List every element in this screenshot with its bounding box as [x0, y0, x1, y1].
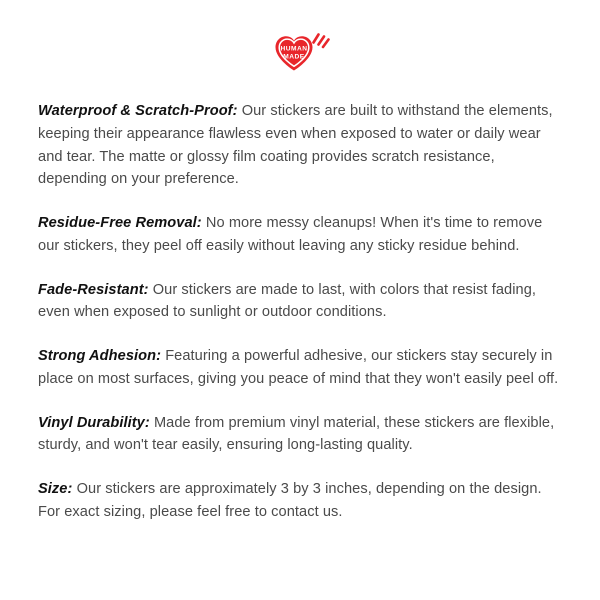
feature-term: Size: [38, 481, 72, 497]
feature-term: Fade-Resistant: [38, 282, 149, 298]
feature-item-strong-adhesion: Strong Adhesion: Featuring a powerful ad… [38, 345, 560, 391]
feature-description: Our stickers are approximately 3 by 3 in… [38, 481, 542, 520]
brand-wordmark-line1: HUMAN [280, 46, 307, 53]
brand-header: HUMAN MADE [0, 0, 600, 74]
feature-item-fade-resistant: Fade-Resistant: Our stickers are made to… [38, 279, 560, 325]
feature-list: Waterproof & Scratch-Proof: Our stickers… [0, 74, 600, 524]
feature-term: Waterproof & Scratch-Proof: [38, 103, 238, 119]
feature-term: Residue-Free Removal: [38, 215, 202, 231]
brand-wordmark-line2: MADE [283, 53, 305, 60]
feature-term: Vinyl Durability: [38, 415, 150, 431]
human-made-heart-logo-icon: HUMAN MADE [268, 26, 332, 74]
feature-item-waterproof-scratch-proof: Waterproof & Scratch-Proof: Our stickers… [38, 100, 560, 191]
speed-lines-icon [314, 35, 329, 48]
product-description-page: HUMAN MADE Waterproof & Scratch-Proof: O… [0, 0, 600, 600]
brand-wordmark: HUMAN MADE [280, 46, 307, 61]
feature-item-size: Size: Our stickers are approximately 3 b… [38, 478, 560, 524]
feature-item-vinyl-durability: Vinyl Durability: Made from premium viny… [38, 412, 560, 458]
feature-item-residue-free-removal: Residue-Free Removal: No more messy clea… [38, 212, 560, 258]
feature-term: Strong Adhesion: [38, 348, 161, 364]
